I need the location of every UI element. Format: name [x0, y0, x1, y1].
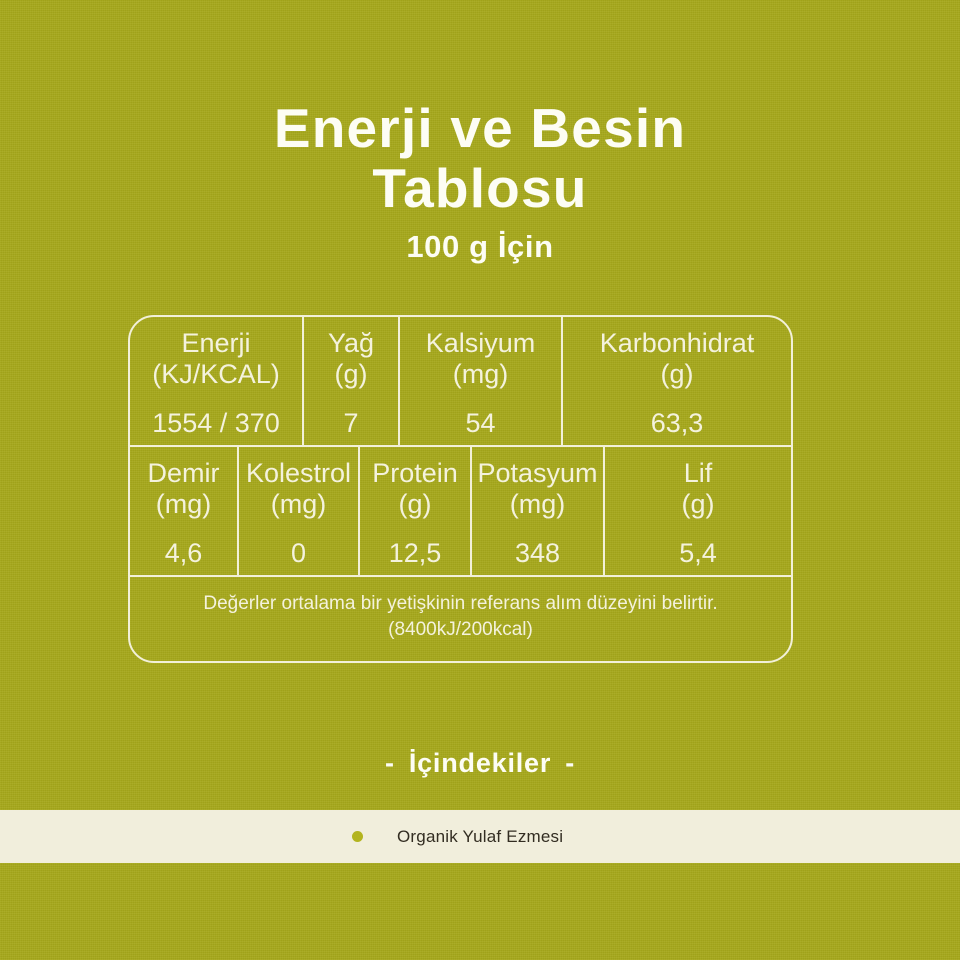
header-name-yag: Yağ — [328, 328, 374, 359]
table-header-cell-kalsiyum: Kalsiyum (mg) — [400, 317, 563, 400]
header-name-kolestrol: Kolestrol — [246, 458, 351, 489]
list-item: Organik Yulaf Ezmesi — [352, 827, 563, 847]
title-subtitle: 100 g İçin — [0, 230, 960, 264]
table-value-row-2: 4,6 0 12,5 348 5,4 — [130, 530, 791, 577]
table-header-cell-yag: Yağ (g) — [304, 317, 400, 400]
table-value-kalsiyum: 54 — [400, 400, 563, 445]
title-line-1: Enerji ve Besin — [0, 98, 960, 158]
header-unit-enerji: (KJ/KCAL) — [152, 359, 280, 390]
table-header-cell-lif: Lif (g) — [605, 447, 791, 530]
header-name-protein: Protein — [372, 458, 458, 489]
footnote-line-2: (8400kJ/200kcal) — [203, 617, 717, 643]
table-value-demir: 4,6 — [130, 530, 239, 575]
footnote-line-1: Değerler ortalama bir yetişkinin referan… — [203, 591, 717, 617]
dash-right-icon: - — [551, 748, 589, 779]
title-line-2: Tablosu — [0, 158, 960, 218]
header-name-enerji: Enerji — [152, 328, 280, 359]
ingredient-strip: Organik Yulaf Ezmesi — [0, 810, 960, 863]
table-header-cell-protein: Protein (g) — [360, 447, 472, 530]
table-header-cell-enerji: Enerji (KJ/KCAL) — [130, 317, 304, 400]
table-header-cell-demir: Demir (mg) — [130, 447, 239, 530]
table-header-cell-karbonhidrat: Karbonhidrat (g) — [563, 317, 791, 400]
table-header-row-1: Enerji (KJ/KCAL) Yağ (g) Kalsiyum (mg) K… — [130, 317, 791, 400]
table-value-potasyum: 348 — [472, 530, 605, 575]
header-name-karbonhidrat: Karbonhidrat — [600, 328, 755, 359]
table-header-cell-kolestrol: Kolestrol (mg) — [239, 447, 360, 530]
table-value-row-1: 1554 / 370 7 54 63,3 — [130, 400, 791, 447]
table-footnote: Değerler ortalama bir yetişkinin referan… — [130, 577, 791, 661]
table-header-row-2: Demir (mg) Kolestrol (mg) Protein (g) Po… — [130, 447, 791, 530]
table-value-yag: 7 — [304, 400, 400, 445]
header-name-potasyum: Potasyum — [477, 458, 597, 489]
page-title: Enerji ve Besin Tablosu 100 g İçin — [0, 98, 960, 264]
nutrition-table: Enerji (KJ/KCAL) Yağ (g) Kalsiyum (mg) K… — [128, 315, 793, 663]
header-unit-yag: (g) — [328, 359, 374, 390]
table-header-cell-potasyum: Potasyum (mg) — [472, 447, 605, 530]
header-unit-karbonhidrat: (g) — [600, 359, 755, 390]
bullet-icon — [352, 831, 363, 842]
header-name-lif: Lif — [682, 458, 715, 489]
ingredients-heading: -İçindekiler- — [0, 748, 960, 779]
header-unit-kolestrol: (mg) — [246, 489, 351, 520]
header-name-demir: Demir — [148, 458, 220, 489]
header-unit-protein: (g) — [372, 489, 458, 520]
table-value-protein: 12,5 — [360, 530, 472, 575]
header-unit-potasyum: (mg) — [477, 489, 597, 520]
dash-left-icon: - — [371, 748, 409, 779]
header-unit-demir: (mg) — [148, 489, 220, 520]
ingredient-label: Organik Yulaf Ezmesi — [397, 827, 563, 847]
ingredients-heading-label: İçindekiler — [409, 748, 551, 778]
header-unit-lif: (g) — [682, 489, 715, 520]
table-value-enerji: 1554 / 370 — [130, 400, 304, 445]
table-value-karbonhidrat: 63,3 — [563, 400, 791, 445]
header-name-kalsiyum: Kalsiyum — [426, 328, 536, 359]
table-value-lif: 5,4 — [605, 530, 791, 575]
header-unit-kalsiyum: (mg) — [426, 359, 536, 390]
table-value-kolestrol: 0 — [239, 530, 360, 575]
